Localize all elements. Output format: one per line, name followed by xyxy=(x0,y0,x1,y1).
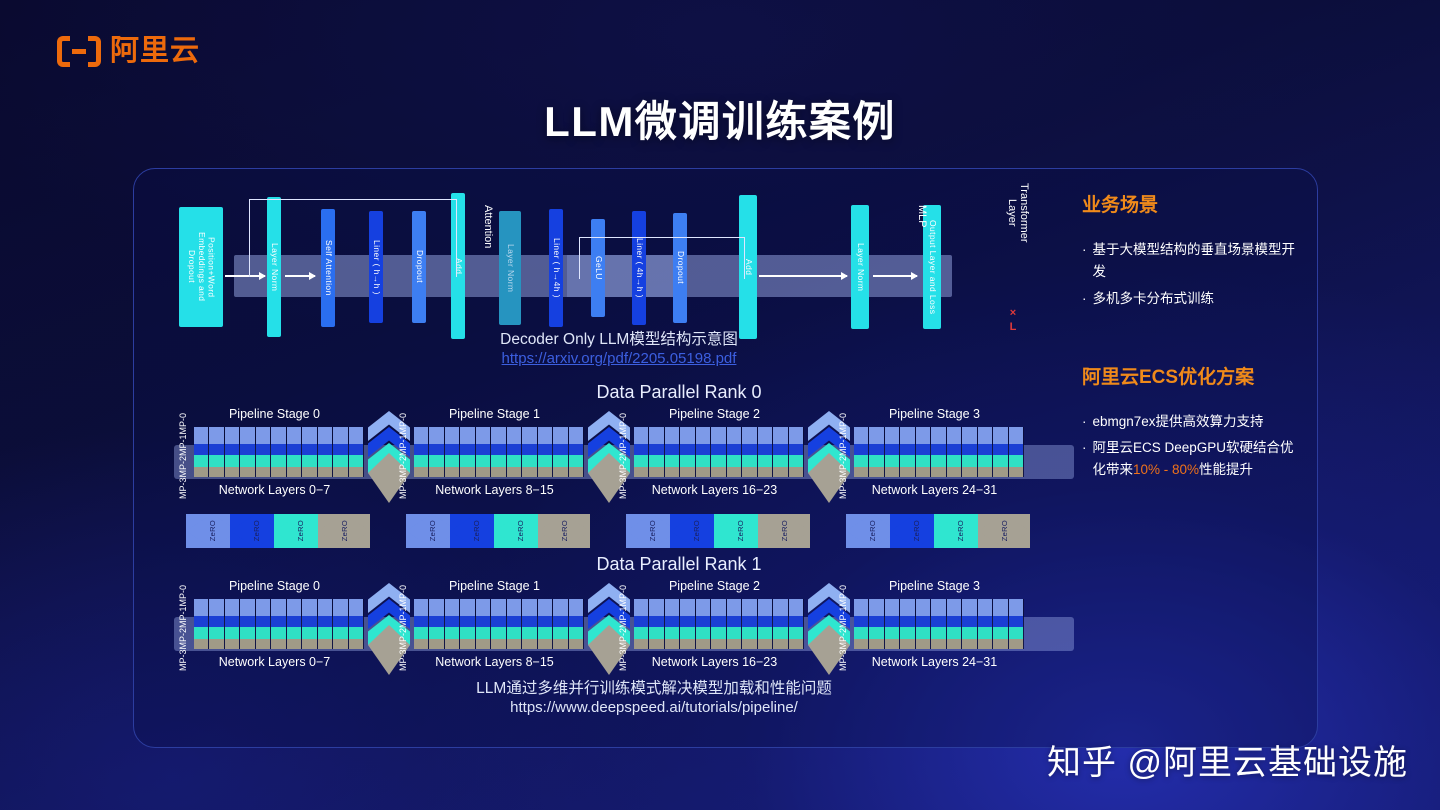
layer-column xyxy=(978,599,993,649)
pipeline-stage-title: Pipeline Stage 1 xyxy=(396,579,593,593)
layer-column xyxy=(665,599,680,649)
logo-text: 阿里云 xyxy=(110,37,200,66)
layer-column xyxy=(429,427,444,477)
transformer-block: Layer Norm xyxy=(499,211,521,325)
layer-column xyxy=(742,427,757,477)
layer-column xyxy=(194,427,209,477)
layer-column xyxy=(194,599,209,649)
layer-column xyxy=(916,599,931,649)
pipeline-stage-title: Pipeline Stage 1 xyxy=(396,407,593,421)
arxiv-link[interactable]: https://arxiv.org/pdf/2205.05198.pdf xyxy=(319,350,919,367)
bullet-ecs-2: · 阿里云ECS DeepGPU软硬结合优化带来10% - 80%性能提升 xyxy=(1082,437,1302,481)
layer-column xyxy=(1009,427,1024,477)
layer-column xyxy=(742,599,757,649)
pipeline-caption: LLM通过多维并行训练模式解决模型加载和性能问题 https://www.dee… xyxy=(294,676,1014,716)
layer-column xyxy=(900,599,915,649)
alibaba-cloud-logo-icon xyxy=(57,36,101,67)
layer-column xyxy=(789,599,804,649)
layer-column xyxy=(333,427,348,477)
zero-label: ZeRO xyxy=(516,520,525,541)
bullet-ecs-1-text: ebmgn7ex提供高效算力支持 xyxy=(1093,411,1264,433)
layer-column xyxy=(869,427,884,477)
flow-arrow xyxy=(759,275,847,277)
layer-column xyxy=(696,427,711,477)
right-column: 业务场景 · 基于大模型结构的垂直场景模型开发 · 多机多卡分布式训练 阿里云E… xyxy=(1082,190,1302,486)
layer-column xyxy=(491,599,506,649)
group-label-mlp: MLP xyxy=(916,205,928,228)
layer-column xyxy=(414,427,429,477)
layer-column xyxy=(962,427,977,477)
layer-column xyxy=(947,599,962,649)
pipeline-stage-title: Pipeline Stage 2 xyxy=(616,407,813,421)
transformer-block: Liner ( h→4h ) xyxy=(549,209,563,327)
layer-column xyxy=(869,599,884,649)
zero-label: ZeRO xyxy=(648,520,657,541)
rank-title-1: Data Parallel Rank 1 xyxy=(319,554,1039,575)
layer-column xyxy=(349,427,364,477)
zero-label: ZeRO xyxy=(472,520,481,541)
zero-label: ZeRO xyxy=(208,520,217,541)
group-label-transformer-layer: TransformerLayer xyxy=(1006,183,1030,243)
pipeline-stage-title: Pipeline Stage 0 xyxy=(176,407,373,421)
layer-column xyxy=(445,599,460,649)
layer-column xyxy=(900,427,915,477)
layer-column xyxy=(209,427,224,477)
pipeline-stage-layers: Network Layers 16−23 xyxy=(616,483,813,497)
layer-column xyxy=(665,427,680,477)
layer-column xyxy=(538,427,553,477)
zero-diamond: ZeRO xyxy=(978,514,1030,548)
layer-column xyxy=(947,427,962,477)
pipeline-stage-layers: Network Layers 8−15 xyxy=(396,655,593,669)
transformer-block: Position+WordEmbeddings andDropout xyxy=(179,207,223,327)
layer-column xyxy=(318,599,333,649)
zero-label: ZeRO xyxy=(340,520,349,541)
bullet-dot: · xyxy=(1082,288,1087,310)
layer-column xyxy=(507,599,522,649)
layer-column xyxy=(302,427,317,477)
bullet-business-1: · 基于大模型结构的垂直场景模型开发 xyxy=(1082,239,1302,283)
layer-column xyxy=(727,599,742,649)
page-title: LLM微调训练案例 xyxy=(0,88,1440,149)
bullet-ecs-2-post: 性能提升 xyxy=(1199,462,1253,477)
pipeline-stage-layers: Network Layers 8−15 xyxy=(396,483,593,497)
layer-column xyxy=(287,427,302,477)
layer-column xyxy=(634,599,649,649)
watermark: 知乎 @阿里云基础设施 xyxy=(1047,735,1408,784)
layer-column xyxy=(634,427,649,477)
rank-title-0: Data Parallel Rank 0 xyxy=(319,382,1039,403)
layer-column xyxy=(649,599,664,649)
layer-column xyxy=(460,599,475,649)
layer-column xyxy=(476,599,491,649)
layer-column xyxy=(773,427,788,477)
pipeline-stage-slab xyxy=(414,427,584,477)
layer-column xyxy=(209,599,224,649)
layer-column xyxy=(225,427,240,477)
layer-column xyxy=(333,599,348,649)
layer-column xyxy=(287,599,302,649)
layer-column xyxy=(696,599,711,649)
pipeline-stage-slab xyxy=(414,599,584,649)
layer-column xyxy=(962,599,977,649)
pipeline-stage-slab xyxy=(194,427,364,477)
bullet-dot: · xyxy=(1082,411,1087,433)
zero-label: ZeRO xyxy=(956,520,965,541)
zero-diamond: ZeRO xyxy=(318,514,370,548)
transformer-block-label: Layer Norm xyxy=(505,244,515,292)
zero-label: ZeRO xyxy=(428,520,437,541)
residual-connection xyxy=(249,199,457,277)
layer-column xyxy=(680,427,695,477)
pipeline-stage-layers: Network Layers 24−31 xyxy=(836,483,1033,497)
layer-column xyxy=(553,599,568,649)
layer-column xyxy=(680,599,695,649)
bullet-business-2-text: 多机多卡分布式训练 xyxy=(1093,288,1215,310)
repeat-marker: ×L xyxy=(1001,307,1025,335)
layer-column xyxy=(538,599,553,649)
layer-column xyxy=(885,427,900,477)
section-heading-business: 业务场景 xyxy=(1082,190,1302,217)
layer-column xyxy=(773,599,788,649)
layer-column xyxy=(414,599,429,649)
layer-column xyxy=(931,427,946,477)
bullet-business-1-text: 基于大模型结构的垂直场景模型开发 xyxy=(1093,239,1303,283)
bullet-dot: · xyxy=(1082,239,1087,283)
layer-column xyxy=(271,599,286,649)
layer-column xyxy=(711,427,726,477)
layer-column xyxy=(649,427,664,477)
layer-column xyxy=(569,427,584,477)
slide-root: 阿里云 LLM微调训练案例 Position+WordEmbeddings an… xyxy=(0,0,1440,810)
layer-column xyxy=(240,599,255,649)
layer-column xyxy=(225,599,240,649)
zero-label: ZeRO xyxy=(780,520,789,541)
pipeline-stage-slab xyxy=(854,599,1024,649)
layer-column xyxy=(522,427,537,477)
layer-column xyxy=(349,599,364,649)
layer-column xyxy=(240,427,255,477)
layer-column xyxy=(445,427,460,477)
zero-label: ZeRO xyxy=(252,520,261,541)
transformer-block: Layer Norm xyxy=(851,205,869,329)
layer-column xyxy=(460,427,475,477)
layer-column xyxy=(491,427,506,477)
layer-column xyxy=(993,599,1008,649)
pipeline-stage-layers: Network Layers 0−7 xyxy=(176,483,373,497)
zero-diamond: ZeRO xyxy=(758,514,810,548)
layer-column xyxy=(758,599,773,649)
bullet-ecs-2-text: 阿里云ECS DeepGPU软硬结合优化带来10% - 80%性能提升 xyxy=(1093,437,1303,481)
layer-column xyxy=(476,427,491,477)
pipeline-stage-layers: Network Layers 16−23 xyxy=(616,655,813,669)
layer-column xyxy=(318,427,333,477)
pipeline-stage-title: Pipeline Stage 3 xyxy=(836,407,1033,421)
residual-connection xyxy=(579,237,745,279)
layer-column xyxy=(522,599,537,649)
pipeline-stage-layers: Network Layers 24−31 xyxy=(836,655,1033,669)
layer-column xyxy=(854,599,869,649)
section-heading-ecs: 阿里云ECS优化方案 xyxy=(1082,362,1302,389)
alibaba-cloud-logo: 阿里云 xyxy=(57,36,200,67)
layer-column xyxy=(978,427,993,477)
layer-column xyxy=(256,427,271,477)
transformer-caption: Decoder Only LLM模型结构示意图 https://arxiv.or… xyxy=(319,327,919,367)
layer-column xyxy=(429,599,444,649)
deepspeed-link[interactable]: https://www.deepspeed.ai/tutorials/pipel… xyxy=(294,699,1014,716)
layer-column xyxy=(885,599,900,649)
pipeline-stage-title: Pipeline Stage 0 xyxy=(176,579,373,593)
pipeline-stage-slab xyxy=(634,599,804,649)
layer-column xyxy=(993,427,1008,477)
zero-label: ZeRO xyxy=(560,520,569,541)
layer-column xyxy=(1009,599,1024,649)
layer-column xyxy=(854,427,869,477)
bullet-ecs-2-highlight: 10% - 80% xyxy=(1133,462,1199,477)
pipeline-stage-title: Pipeline Stage 3 xyxy=(836,579,1033,593)
pipeline-stage-slab xyxy=(194,599,364,649)
layer-column xyxy=(256,599,271,649)
pipeline-stage-slab xyxy=(634,427,804,477)
layer-column xyxy=(916,427,931,477)
layer-column xyxy=(302,599,317,649)
layer-column xyxy=(569,599,584,649)
zero-label: ZeRO xyxy=(296,520,305,541)
bullet-ecs-1: · ebmgn7ex提供高效算力支持 xyxy=(1082,411,1302,433)
transformer-block-label: Liner ( h→4h ) xyxy=(551,238,561,298)
layer-column xyxy=(553,427,568,477)
layer-column xyxy=(758,427,773,477)
zero-label: ZeRO xyxy=(1000,520,1009,541)
bullet-business-2: · 多机多卡分布式训练 xyxy=(1082,288,1302,310)
pipeline-stage-title: Pipeline Stage 2 xyxy=(616,579,813,593)
transformer-block-label: Output Layer and Loss xyxy=(927,220,937,314)
zero-label: ZeRO xyxy=(736,520,745,541)
zero-label: ZeRO xyxy=(692,520,701,541)
layer-column xyxy=(271,427,286,477)
zero-label: ZeRO xyxy=(868,520,877,541)
zero-label: ZeRO xyxy=(912,520,921,541)
zero-diamond: ZeRO xyxy=(538,514,590,548)
transformer-block-label: Layer Norm xyxy=(855,243,865,291)
group-label-attention: Attention xyxy=(482,205,494,248)
transformer-block-label: Position+WordEmbeddings andDropout xyxy=(186,232,215,301)
layer-column xyxy=(711,599,726,649)
bullet-dot: · xyxy=(1082,437,1087,481)
pipeline-stage-layers: Network Layers 0−7 xyxy=(176,655,373,669)
layer-column xyxy=(789,427,804,477)
layer-column xyxy=(931,599,946,649)
flow-arrow xyxy=(873,275,917,277)
pipeline-stage-slab xyxy=(854,427,1024,477)
layer-column xyxy=(507,427,522,477)
layer-column xyxy=(727,427,742,477)
pipeline-caption-text: LLM通过多维并行训练模式解决模型加载和性能问题 xyxy=(476,680,832,697)
transformer-caption-text: Decoder Only LLM模型结构示意图 xyxy=(500,331,738,348)
